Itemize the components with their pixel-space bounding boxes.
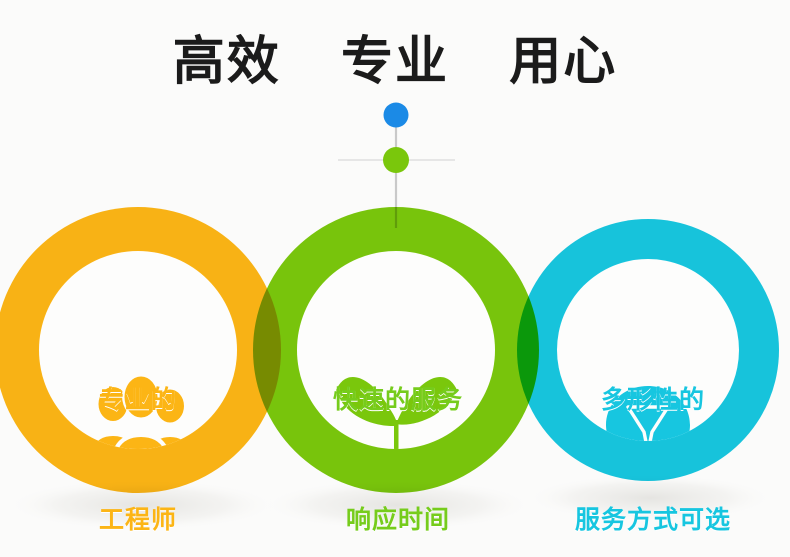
ring-caption-service-modes: 多形性的 服务方式可选 bbox=[528, 300, 778, 557]
ring-caption-line: 多形性的 bbox=[528, 380, 778, 420]
infographic-canvas: 高效 专业 用心 bbox=[0, 0, 790, 557]
ring-caption-engineers: 专业的 工程师 bbox=[18, 300, 258, 557]
ring-caption-line: 专业的 bbox=[18, 380, 258, 420]
ring-caption-response-time: 快速的服务 响应时间 bbox=[278, 300, 518, 557]
ring-caption-line: 服务方式可选 bbox=[528, 500, 778, 540]
ring-caption-line: 快速的服务 bbox=[278, 380, 518, 420]
ring-caption-line: 工程师 bbox=[18, 500, 258, 540]
ring-caption-line: 响应时间 bbox=[278, 500, 518, 540]
